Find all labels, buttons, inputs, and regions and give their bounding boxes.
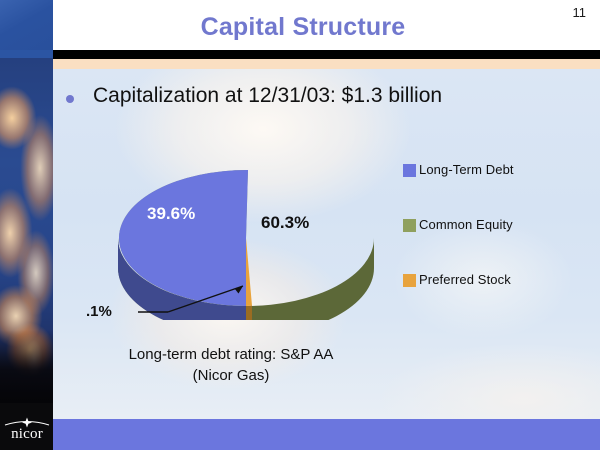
bullet-text: Capitalization at 12/31/03: $1.3 billion [93,84,442,108]
accent-strip [53,59,600,69]
page-title: Capital Structure [53,10,553,44]
flame-photo-shadow [0,330,53,403]
pie-label-preferred-stock: .1% [86,303,112,320]
page-number: 11 [573,5,587,20]
legend-label: Preferred Stock [419,273,511,287]
bullet-dot-icon [66,95,74,103]
legend-swatch-icon [403,164,416,177]
pie-slice-preferred-stock [246,238,252,306]
bullet-row: Capitalization at 12/31/03: $1.3 billion [66,84,566,114]
pie-label-common-equity: 60.3% [261,213,309,233]
pie-label-long-term-debt: 39.6% [147,204,195,224]
legend-swatch-icon [403,219,416,232]
legend-swatch-icon [403,274,416,287]
nicor-logo-icon: nicor [2,416,52,442]
bottom-accent-bar [53,419,600,450]
legend-label: Common Equity [419,218,513,232]
pie-chart [100,140,400,320]
legend-label: Long-Term Debt [419,163,514,177]
left-decoration-column: nicor [0,0,53,450]
title-divider-rule [53,50,600,59]
pie-side-preferred-stock [246,306,252,320]
footnote-line-1: Long-term debt rating: S&P AA [66,344,396,365]
left-top-blue-block [0,0,53,50]
footnote: Long-term debt rating: S&P AA (Nicor Gas… [66,344,396,386]
footnote-line-2: (Nicor Gas) [66,365,396,386]
chart-legend: Long-Term Debt Common Equity Preferred S… [403,160,593,290]
svg-text:nicor: nicor [11,426,43,442]
slide-canvas: nicor Capital Structure 11 Capitalizatio… [0,0,600,450]
